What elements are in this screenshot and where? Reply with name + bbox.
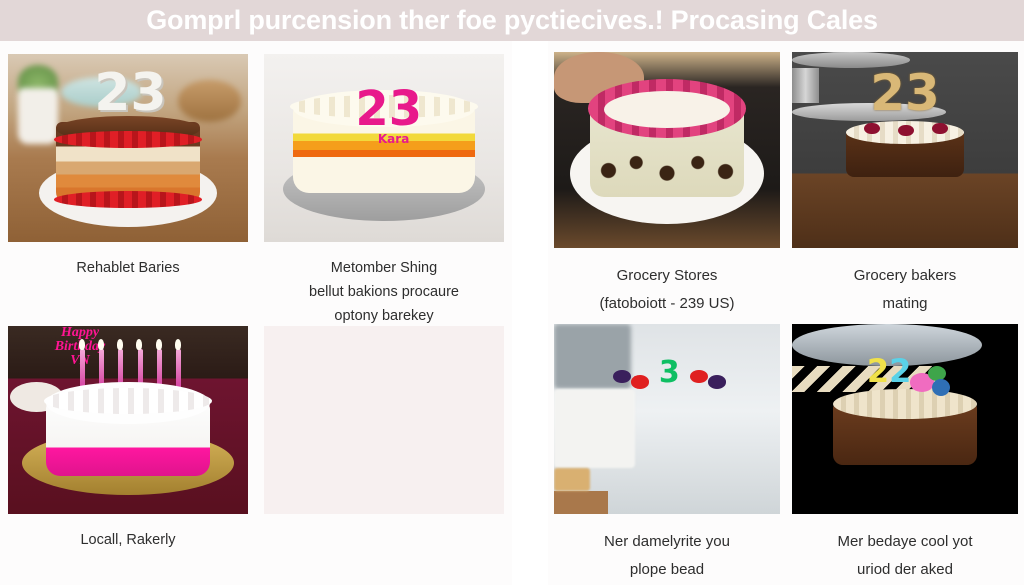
card-caption: Ner damelyrite you plope bead bbox=[554, 528, 780, 584]
number-topper: 23 bbox=[87, 65, 173, 121]
caption-line: Grocery bakers bbox=[792, 262, 1018, 290]
caption-line: plope bead bbox=[554, 556, 780, 584]
panel-divider bbox=[512, 41, 548, 585]
wooden-stool bbox=[554, 491, 608, 514]
berry-decor bbox=[898, 125, 914, 137]
number-topper: 23 bbox=[855, 64, 954, 123]
candle bbox=[176, 349, 181, 389]
card-caption: Grocery Stores (fatoboiott - 239 US) bbox=[554, 262, 780, 318]
right-results-panel: Happy 23rd Birthday Grocery Stores (fato… bbox=[548, 41, 1024, 585]
caption-line: uriod der aked bbox=[792, 556, 1018, 584]
script-line: Happy bbox=[61, 326, 99, 340]
caption-line: Ner damelyrite you bbox=[554, 528, 780, 556]
result-card[interactable]: 3 Ner damelyrite you plope bead bbox=[548, 313, 786, 585]
cake-stand-stem bbox=[792, 68, 819, 103]
candle-flame bbox=[175, 339, 181, 350]
results-panels: 23 Rehablet Baries 23 bbox=[0, 41, 1024, 585]
number-topper: 23 bbox=[336, 84, 442, 133]
berry-decor bbox=[613, 370, 631, 383]
chocolate-piping-decor bbox=[590, 144, 744, 197]
left-results-panel: 23 Rehablet Baries 23 bbox=[0, 41, 512, 585]
card-caption: Mer bedaye cool yot uriod der aked bbox=[792, 528, 1018, 584]
candle-flame bbox=[117, 339, 123, 350]
left-image-grid: 23 Rehablet Baries 23 bbox=[0, 41, 512, 585]
page-header-bar: Gomprl purcension ther foe pyctiecives.!… bbox=[0, 0, 1024, 41]
cookie-decor bbox=[178, 80, 240, 121]
card-caption: Grocery bakers mating bbox=[792, 262, 1018, 318]
number-digit: 2 bbox=[867, 355, 889, 387]
cake-thumbnail[interactable]: 2 2 bbox=[792, 324, 1018, 514]
result-card[interactable]: 23 Kara Metomber Shing bellut bakions pr… bbox=[256, 41, 512, 313]
cake-thumbnail[interactable]: Happy Birthday VN bbox=[8, 326, 248, 514]
caption-line: bellut bakions procaure bbox=[264, 280, 504, 304]
pot-decor bbox=[18, 88, 59, 144]
result-card[interactable]: Happy Birthday VN Locall, Rakerly bbox=[0, 313, 256, 585]
caption-line: Metomber Shing bbox=[264, 256, 504, 280]
page-title: Gomprl purcension ther foe pyctiecives.!… bbox=[146, 5, 878, 36]
result-card[interactable]: 23 Rehablet Baries bbox=[0, 41, 256, 313]
card-caption: Locall, Rakerly bbox=[8, 528, 248, 552]
result-card[interactable]: Happy 23rd Birthday Grocery Stores (fato… bbox=[548, 41, 786, 313]
cake-thumbnail[interactable]: 23 bbox=[792, 52, 1018, 248]
candle bbox=[80, 349, 85, 389]
right-image-grid: Happy 23rd Birthday Grocery Stores (fato… bbox=[548, 41, 1024, 585]
card-caption: Rehablet Baries bbox=[8, 256, 248, 280]
result-card-empty bbox=[256, 313, 512, 585]
berry-decor bbox=[932, 123, 948, 135]
cake-thumbnail[interactable]: 23 bbox=[8, 54, 248, 242]
pastry-background-decor bbox=[554, 468, 590, 491]
candle-flame bbox=[79, 339, 85, 350]
name-icing-text: Kara bbox=[360, 129, 427, 148]
number-digit: 2 bbox=[889, 355, 911, 387]
caption-line: Locall, Rakerly bbox=[8, 528, 248, 552]
cake-thumbnail[interactable]: 23 Kara bbox=[264, 54, 504, 242]
empty-thumbnail-placeholder bbox=[264, 326, 504, 514]
berry-decor bbox=[708, 375, 726, 388]
number-topper: 3 bbox=[644, 354, 694, 392]
result-card[interactable]: 23 Grocery bakers mating bbox=[786, 41, 1024, 313]
result-card[interactable]: 2 2 Mer bedaye cool yot uriod der aked bbox=[786, 313, 1024, 585]
caption-line: Rehablet Baries bbox=[8, 256, 248, 280]
caption-line: Grocery Stores bbox=[554, 262, 780, 290]
cake-thumbnail[interactable]: 3 bbox=[554, 324, 780, 514]
candle-flame bbox=[98, 339, 104, 350]
cake-thumbnail[interactable]: Happy 23rd Birthday bbox=[554, 52, 780, 248]
red-piping-top bbox=[54, 131, 203, 148]
caption-line: Mer bedaye cool yot bbox=[792, 528, 1018, 556]
candle-flame bbox=[156, 339, 162, 350]
shelf-background-decor bbox=[554, 389, 635, 469]
